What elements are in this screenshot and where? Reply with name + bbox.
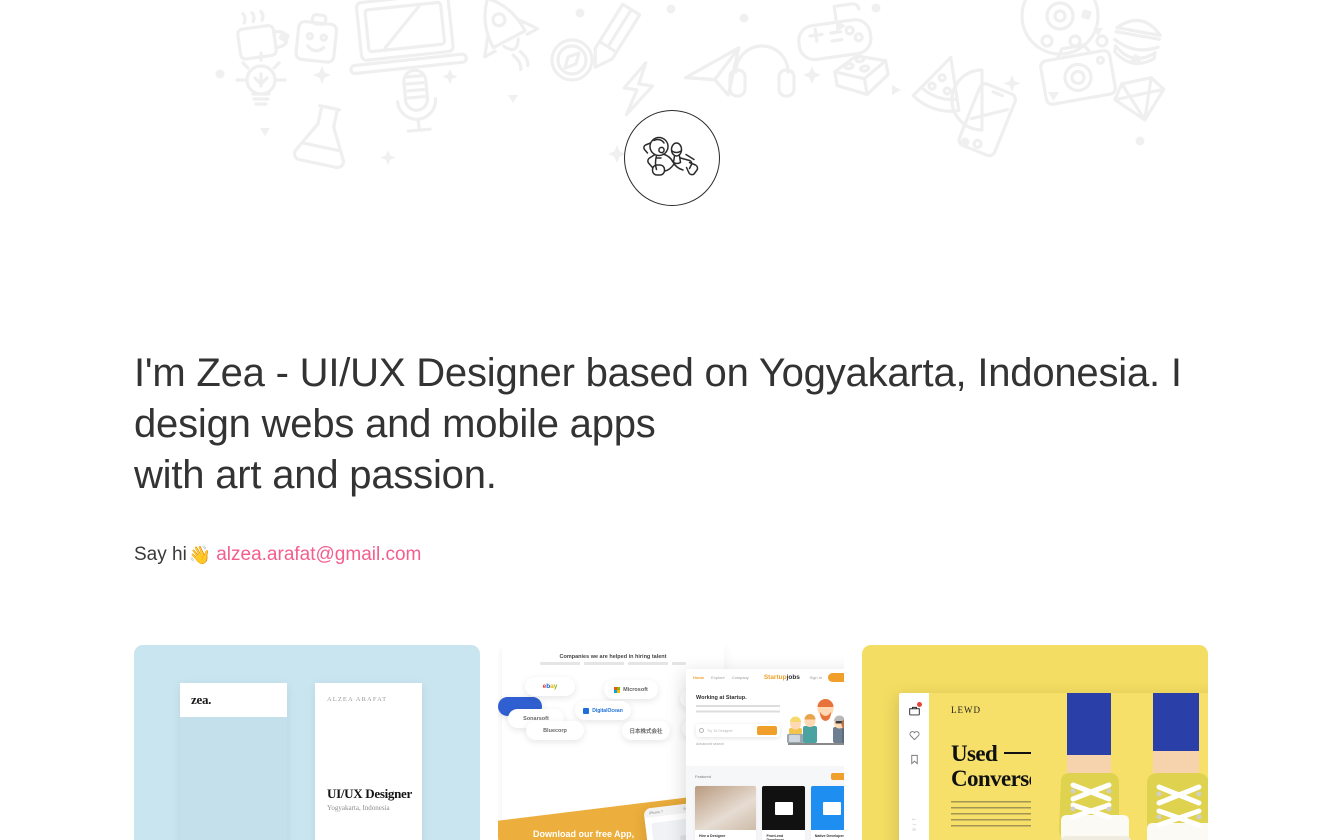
featured-cards-grid: Hire a Designer Full time / Jakarta, ID … [695, 786, 844, 840]
waving-hand-emoji: 👋 [189, 545, 211, 565]
converse-content: LEWD Used Converse. $19999 ADD TO CART [929, 693, 1208, 840]
cjk-label: 日本株式会社 [629, 727, 662, 735]
search-button[interactable] [757, 726, 777, 735]
converse-headline-line-1: Used [951, 741, 997, 766]
business-card-back-mockup: ALZEA ARAFAT UI/UX Designer Yogyakarta, … [315, 683, 422, 840]
slide-pager: 1 / 8 [912, 818, 917, 832]
featured-card[interactable]: Hire a Designer Full time / Jakarta, ID [695, 786, 756, 840]
featured-label: Featured [695, 774, 711, 779]
nav-sign-up-button[interactable] [828, 673, 844, 682]
converse-shoes-photo [1031, 693, 1208, 840]
project-card-converse-shop[interactable]: 1 / 8 LEWD Used Converse. $19999 ADD TO … [862, 645, 1208, 840]
bookmark-icon[interactable] [909, 752, 920, 763]
featured-card[interactable]: Native Developer Dropbox, Inc Remote / N… [811, 786, 844, 840]
headline-line-1: I'm Zea - UI/UX Designer based on Yogyak… [134, 348, 1144, 399]
advanced-search-link[interactable]: Advanced search [696, 742, 780, 746]
business-card-front-mockup: zea. [180, 683, 287, 840]
browser-hero: Working at Startup. Try 'UI Designer' Ad… [686, 685, 844, 762]
digitalocean-logo-icon [583, 708, 589, 714]
converse-headline-line-2: Converse. [951, 766, 1043, 791]
nav-item-company[interactable]: Company [732, 675, 749, 680]
browser-hero-heading: Working at Startup. [696, 695, 780, 701]
cart-badge [917, 702, 922, 707]
card-owner-name: ALZEA ARAFAT [327, 696, 410, 703]
nav-sign-in[interactable]: Sign In [810, 675, 822, 680]
search-icon [699, 728, 704, 733]
featured-card-image [811, 786, 844, 830]
featured-card-title: Native Developer [815, 834, 844, 838]
startupjobs-brand: Startupjobs [764, 674, 800, 681]
nav-item-explore[interactable]: Explore [711, 675, 725, 680]
team-illustration [786, 695, 844, 756]
jobs-landing-subtitle-placeholder [540, 662, 686, 665]
logo-card-top: zea. [180, 683, 287, 717]
card-owner-location: Yogyakarta, Indonesia [327, 804, 390, 812]
contact-line: Say hi👋alzea.arafat@gmail.com [134, 543, 421, 567]
nav-item-home[interactable]: Home [693, 675, 704, 680]
left-icon-rail: 1 / 8 [899, 693, 929, 840]
page-headline: I'm Zea - UI/UX Designer based on Yogyak… [134, 348, 1144, 501]
company-chip-microsoft: Microsoft [604, 680, 658, 699]
featured-card-title: Front-end Developer [766, 834, 800, 840]
browser-nav: Home Explore Company Startupjobs Sign In [686, 669, 844, 685]
microsoft-label: Microsoft [623, 687, 648, 693]
company-chip-cjk: 日本株式会社 [622, 721, 670, 740]
job-search-bar[interactable]: Try 'UI Designer' [696, 724, 780, 737]
jobs-browser-mockup: Home Explore Company Startupjobs Sign In… [686, 669, 844, 840]
heart-icon[interactable] [909, 728, 920, 739]
digitalocean-label: DigitalOcean [592, 708, 623, 714]
company-chip-ebay: ebay [525, 677, 575, 696]
featured-card-image [762, 786, 804, 830]
jobs-landing-title: Companies we are helped in hiring talent [502, 654, 724, 660]
app-promo-line-1: Download our free App, [533, 829, 634, 839]
zea-logo-text: zea. [191, 692, 211, 708]
featured-card-image [695, 786, 756, 830]
browser-hero-paragraph [696, 705, 780, 716]
portfolio-page: I'm Zea - UI/UX Designer based on Yogyak… [0, 0, 1344, 840]
featured-see-more-button[interactable] [831, 773, 844, 780]
project-card-personal-branding[interactable]: zea. ALZEA ARAFAT UI/UX Designer Yogyaka… [134, 645, 480, 840]
bluecorp-label: Bluecorp [543, 728, 567, 734]
project-cards-row: zea. ALZEA ARAFAT UI/UX Designer Yogyaka… [134, 645, 1210, 840]
featured-card[interactable]: Front-end Developer Tokopedia Full time … [762, 786, 804, 840]
headline-line-3: with art and passion. [134, 450, 1144, 501]
featured-card-title: Hire a Designer [699, 834, 752, 838]
card-owner-role: UI/UX Designer [327, 786, 412, 802]
search-input-placeholder[interactable]: Try 'UI Designer' [707, 729, 733, 733]
say-hi-label: Say hi [134, 544, 187, 565]
microsoft-logo-icon [614, 687, 620, 693]
project-card-startup-jobs[interactable]: Companies we are helped in hiring talent… [498, 645, 844, 840]
phone-carrier: iPhone 7 [649, 809, 664, 815]
lewd-brand: LEWD [951, 705, 981, 715]
content-container: I'm Zea - UI/UX Designer based on Yogyak… [134, 0, 1210, 840]
cart-icon[interactable] [909, 704, 920, 715]
contact-email-link[interactable]: alzea.arafat@gmail.com [216, 544, 421, 565]
company-chip-bluecorp: Bluecorp [526, 721, 584, 740]
company-chip-digitalocean: DigitalOcean [575, 701, 631, 720]
headline-line-2: design webs and mobile apps [134, 399, 1144, 450]
converse-site-mockup: 1 / 8 LEWD Used Converse. $19999 ADD TO … [899, 693, 1208, 840]
featured-section: Featured Hire a Designer Full time / Jak… [686, 766, 844, 840]
